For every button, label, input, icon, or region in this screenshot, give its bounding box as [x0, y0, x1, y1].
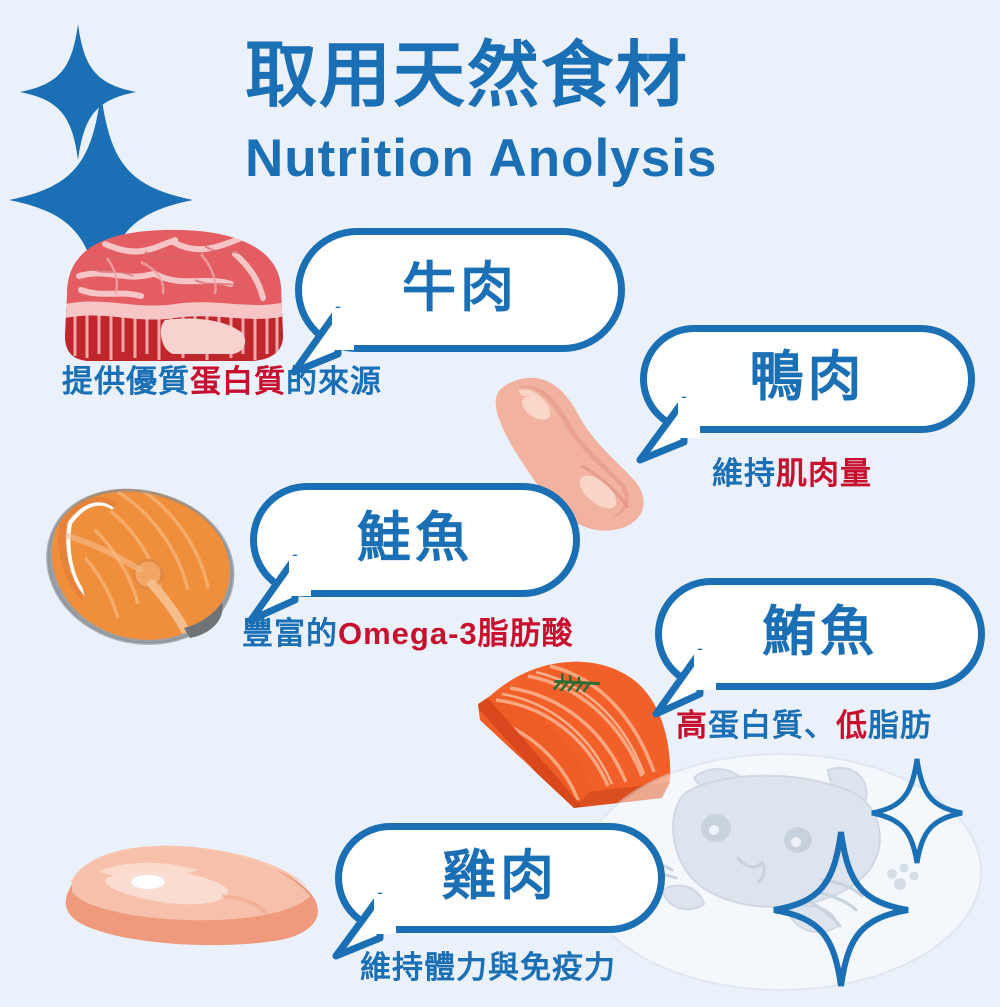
caption-segment-0: 豐富的	[242, 616, 338, 651]
caption-segment-3: 脂肪	[868, 708, 932, 743]
caption-chicken: 維持體力與免疫力	[360, 952, 616, 983]
caption-beef: 提供優質蛋白質的來源	[62, 366, 382, 397]
caption-duck: 維持肌肉量	[712, 458, 872, 489]
beef-steak-illustration	[45, 224, 295, 369]
caption-segment-0: 維持體力與免疫力	[360, 950, 616, 985]
header: 取用天然食材 Nutrition Anolysis	[0, 0, 1000, 200]
bubble-label-salmon: 鮭魚	[357, 511, 473, 565]
caption-segment-1: 蛋白質	[190, 364, 286, 399]
caption-tuna: 高蛋白質、低脂肪	[676, 710, 932, 741]
salmon-steak-illustration	[32, 478, 252, 658]
caption-salmon: 豐富的Omega-3脂肪酸	[242, 618, 574, 649]
caption-segment-0: 提供優質	[62, 364, 190, 399]
poster-canvas: 取用天然食材 Nutrition Anolysis	[0, 0, 1000, 1000]
caption-segment-2: 低	[836, 708, 868, 743]
caption-segment-2: 的來源	[286, 364, 382, 399]
bubble-label-chicken: 雞肉	[442, 849, 558, 903]
caption-segment-0: 高	[676, 708, 708, 743]
caption-segment-1: 蛋白質、	[708, 708, 836, 743]
bubble-label-beef: 牛肉	[402, 261, 518, 315]
page-title-en: Nutrition Anolysis	[245, 132, 845, 185]
bubble-label-tuna: 鮪魚	[762, 605, 878, 659]
bubble-tail-duck	[636, 398, 706, 468]
sparkle-bottom-large-icon	[770, 828, 912, 990]
caption-segment-0: 維持	[712, 456, 776, 491]
bubble-label-duck: 鴨肉	[750, 350, 866, 404]
caption-segment-1: Omega-3脂肪酸	[338, 616, 574, 651]
page-title-cn: 取用天然食材	[245, 40, 805, 112]
caption-segment-1: 肌肉量	[776, 456, 872, 491]
chicken-breast-illustration	[52, 836, 332, 951]
